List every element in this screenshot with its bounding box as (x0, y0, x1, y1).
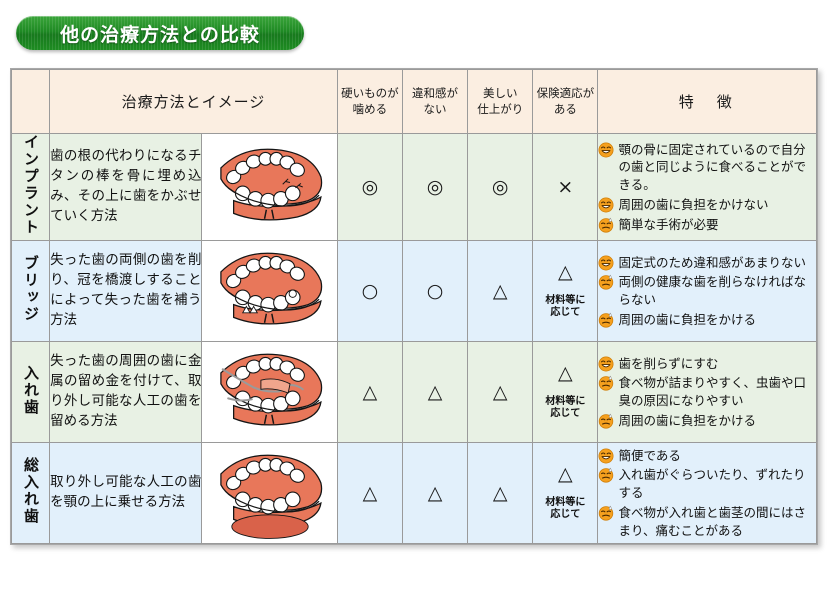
feature-text: 周囲の歯に負担をかける (618, 311, 816, 329)
feature-text: 周囲の歯に負担をかける (618, 412, 816, 430)
section-title-badge: 他の治療方法との比較 (16, 16, 304, 50)
treatment-name-cell: 総入れ歯 (12, 443, 50, 544)
rating-note: 材料等に応じて (533, 396, 597, 421)
rating-cell-no-discomfort: ◎ (402, 134, 467, 241)
rating-cell-hard-food: △ (337, 342, 402, 443)
rating-cell-insurance: △材料等に応じて (533, 342, 598, 443)
feature-item: 両側の健康な歯を削らなければならない (598, 273, 816, 309)
rating-cell-hard-food: ◎ (337, 134, 402, 241)
treatment-description-cell: 失った歯の両側の歯を削り、冠を橋渡しすることによって失った歯を補う方法 (50, 241, 202, 342)
treatment-name-cell: ブリッジ (12, 241, 50, 342)
features-list: 固定式のため違和感があまりない両側の健康な歯を削らなければならない周囲の歯に負担… (598, 254, 816, 329)
feature-text: 簡単な手術が必要 (618, 216, 816, 234)
section-title-text: 他の治療方法との比較 (60, 20, 260, 47)
treatment-description-cell: 取り外し可能な人工の歯を顎の上に乗せる方法 (50, 443, 202, 544)
treatment-illustration-jaw-with-bridge (202, 241, 337, 342)
table-row: ブリッジ失った歯の両側の歯を削り、冠を橋渡しすることによって失った歯を補う方法○… (12, 241, 817, 342)
worried-sweat-face-icon (598, 217, 614, 233)
header-mark-insurance: 保険適応がある (533, 70, 598, 134)
feature-text: 歯を削らずにすむ (618, 355, 816, 373)
rating-symbol: ◎ (468, 177, 532, 198)
rating-cell-beautiful-finish: △ (468, 443, 533, 544)
feature-item: 簡便である (598, 447, 816, 465)
comparison-table-container: 治療方法とイメージ 硬いものが噛める 違和感がない 美しい仕上がり 保険適応があ… (10, 68, 818, 545)
treatment-illustration-upper-lower-jaw-with-implants (202, 134, 337, 241)
feature-item: 固定式のため違和感があまりない (598, 254, 816, 272)
worried-sweat-face-icon (598, 505, 614, 521)
treatment-description-cell: 失った歯の周囲の歯に金属の留め金を付けて、取り外し可能な人工の歯を留める方法 (50, 342, 202, 443)
rating-cell-insurance: △材料等に応じて (533, 443, 598, 544)
features-list: 顎の骨に固定されているので自分の歯と同じように食べることができる。周囲の歯に負担… (598, 141, 816, 234)
rating-symbol: × (533, 177, 597, 198)
rating-symbol: ◎ (403, 177, 467, 198)
feature-item: 簡単な手術が必要 (598, 216, 816, 234)
rating-cell-no-discomfort: △ (402, 342, 467, 443)
features-cell: 歯を削らずにすむ食べ物が詰まりやすく、虫歯や口臭の原因になりやすい周囲の歯に負担… (598, 342, 817, 443)
feature-item: 歯を削らずにすむ (598, 355, 816, 373)
feature-item: 周囲の歯に負担をかけない (598, 196, 816, 214)
feature-text: 入れ歯がぐらついたり、ずれたりする (618, 466, 816, 502)
rating-cell-no-discomfort: ○ (402, 241, 467, 342)
feature-text: 周囲の歯に負担をかけない (618, 196, 816, 214)
rating-cell-insurance: × (533, 134, 598, 241)
worried-sweat-face-icon (598, 375, 614, 391)
feature-text: 顎の骨に固定されているので自分の歯と同じように食べることができる。 (618, 141, 816, 194)
header-mark-no-discomfort-text: 違和感がない (412, 86, 458, 116)
rating-cell-beautiful-finish: ◎ (468, 134, 533, 241)
rating-symbol: △ (533, 262, 597, 283)
rating-cell-no-discomfort: △ (402, 443, 467, 544)
treatment-comparison-table: 治療方法とイメージ 硬いものが噛める 違和感がない 美しい仕上がり 保険適応があ… (11, 69, 817, 544)
smiling-face-icon (598, 142, 614, 158)
feature-item: 周囲の歯に負担をかける (598, 412, 816, 430)
features-cell: 簡便である入れ歯がぐらついたり、ずれたりする食べ物が入れ歯と歯茎の間にはさまり、… (598, 443, 817, 544)
treatment-description-cell: 歯の根の代わりになるチタンの棒を骨に埋め込み、その上に歯をかぶせていく方法 (50, 134, 202, 241)
feature-item: 周囲の歯に負担をかける (598, 311, 816, 329)
features-cell: 顎の骨に固定されているので自分の歯と同じように食べることができる。周囲の歯に負担… (598, 134, 817, 241)
table-header-row: 治療方法とイメージ 硬いものが噛める 違和感がない 美しい仕上がり 保険適応があ… (12, 70, 817, 134)
features-list: 簡便である入れ歯がぐらついたり、ずれたりする食べ物が入れ歯と歯茎の間にはさまり、… (598, 447, 816, 540)
rating-symbol: △ (403, 382, 467, 403)
rating-symbol: △ (468, 483, 532, 504)
rating-symbol: ○ (338, 281, 402, 302)
treatment-name-cell: インプラント (12, 134, 50, 241)
worried-sweat-face-icon (598, 413, 614, 429)
table-row: 総入れ歯取り外し可能な人工の歯を顎の上に乗せる方法△△△△材料等に応じて簡便であ… (12, 443, 817, 544)
header-mark-no-discomfort: 違和感がない (402, 70, 467, 134)
smiling-face-icon (598, 448, 614, 464)
rating-symbol: △ (468, 382, 532, 403)
rating-symbol: △ (533, 363, 597, 384)
rating-note: 材料等に応じて (533, 295, 597, 320)
table-row: 入れ歯失った歯の周囲の歯に金属の留め金を付けて、取り外し可能な人工の歯を留める方… (12, 342, 817, 443)
feature-item: 食べ物が入れ歯と歯茎の間にはさまり、痛むことがある (598, 504, 816, 540)
smiling-face-icon (598, 197, 614, 213)
feature-text: 食べ物が入れ歯と歯茎の間にはさまり、痛むことがある (618, 504, 816, 540)
treatment-name-label: 入れ歯 (23, 365, 38, 416)
treatment-illustration-partial-denture (202, 342, 337, 443)
rating-cell-insurance: △材料等に応じて (533, 241, 598, 342)
worried-sweat-face-icon (598, 312, 614, 328)
header-mark-beautiful-finish-text: 美しい仕上がり (477, 86, 523, 116)
treatment-illustration-full-denture (202, 443, 337, 544)
header-mark-insurance-text: 保険適応がある (537, 86, 595, 116)
smiling-face-icon (598, 356, 614, 372)
feature-item: 顎の骨に固定されているので自分の歯と同じように食べることができる。 (598, 141, 816, 194)
feature-item: 食べ物が詰まりやすく、虫歯や口臭の原因になりやすい (598, 374, 816, 410)
table-body: インプラント歯の根の代わりになるチタンの棒を骨に埋め込み、その上に歯をかぶせてい… (12, 134, 817, 544)
rating-note: 材料等に応じて (533, 497, 597, 522)
rating-symbol: △ (338, 483, 402, 504)
rating-symbol: ◎ (338, 177, 402, 198)
treatment-name-label: インプラント (23, 134, 38, 236)
feature-text: 簡便である (618, 447, 816, 465)
header-mark-hard-food: 硬いものが噛める (337, 70, 402, 134)
feature-text: 固定式のため違和感があまりない (618, 254, 816, 272)
rating-symbol: △ (338, 382, 402, 403)
feature-item: 入れ歯がぐらついたり、ずれたりする (598, 466, 816, 502)
rating-cell-beautiful-finish: △ (468, 241, 533, 342)
worried-sweat-face-icon (598, 274, 614, 290)
header-features: 特 徴 (598, 70, 817, 134)
header-mark-hard-food-text: 硬いものが噛める (341, 86, 399, 116)
worried-sweat-face-icon (598, 467, 614, 483)
rating-symbol: ○ (403, 281, 467, 302)
rating-cell-hard-food: △ (337, 443, 402, 544)
features-cell: 固定式のため違和感があまりない両側の健康な歯を削らなければならない周囲の歯に負担… (598, 241, 817, 342)
rating-symbol: △ (403, 483, 467, 504)
table-row: インプラント歯の根の代わりになるチタンの棒を骨に埋め込み、その上に歯をかぶせてい… (12, 134, 817, 241)
smiling-face-icon (598, 255, 614, 271)
rating-cell-beautiful-finish: △ (468, 342, 533, 443)
header-blank-cell (12, 70, 50, 134)
rating-symbol: △ (533, 464, 597, 485)
rating-symbol: △ (468, 281, 532, 302)
header-method-and-image: 治療方法とイメージ (50, 70, 338, 134)
feature-text: 食べ物が詰まりやすく、虫歯や口臭の原因になりやすい (618, 374, 816, 410)
rating-cell-hard-food: ○ (337, 241, 402, 342)
treatment-name-label: ブリッジ (23, 255, 38, 323)
treatment-name-label: 総入れ歯 (23, 457, 38, 525)
header-mark-beautiful-finish: 美しい仕上がり (468, 70, 533, 134)
feature-text: 両側の健康な歯を削らなければならない (618, 273, 816, 309)
features-list: 歯を削らずにすむ食べ物が詰まりやすく、虫歯や口臭の原因になりやすい周囲の歯に負担… (598, 355, 816, 430)
treatment-name-cell: 入れ歯 (12, 342, 50, 443)
